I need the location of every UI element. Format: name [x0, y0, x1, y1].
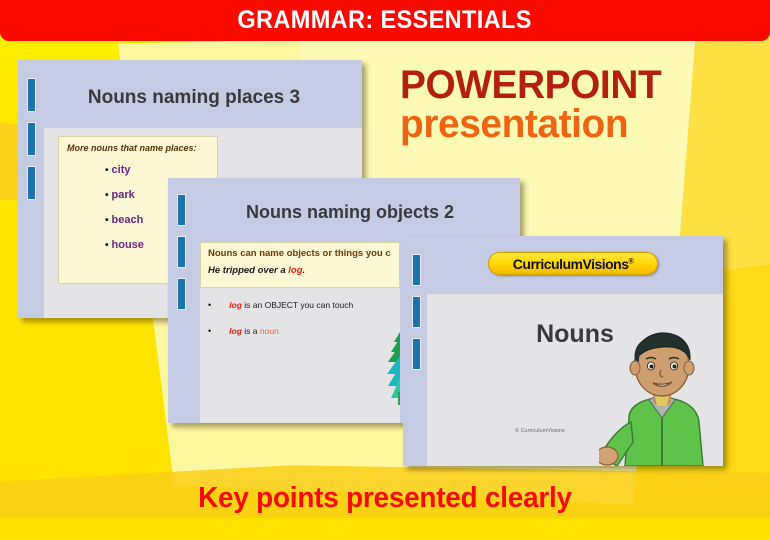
- logo-text: CurriculumVisions®: [513, 257, 633, 271]
- header-banner: GRAMMAR: ESSENTIALS: [0, 0, 770, 41]
- slide2-bullet-tail: noun: [260, 326, 279, 336]
- accent-bar-icon: [27, 166, 36, 200]
- bullet-dot-icon: •: [105, 190, 109, 201]
- bullet-dot-icon: •: [208, 326, 211, 336]
- header-title: GRAMMAR: ESSENTIALS: [238, 8, 532, 33]
- accent-bar-icon: [27, 122, 36, 156]
- slide2-note-lead: Nouns can name objects or things you c: [208, 248, 391, 259]
- slide1-bullet-text: park: [112, 189, 135, 201]
- slide2-note-box: Nouns can name objects or things you c H…: [200, 242, 400, 288]
- logo-text-part2: Visions: [582, 256, 628, 272]
- hero-line-presentation: presentation: [400, 104, 749, 144]
- slide1-title: Nouns naming places 3: [44, 87, 344, 109]
- boy-illustration: [599, 330, 723, 466]
- bullet-dot-icon: •: [105, 165, 109, 176]
- slide1-bullet-text: city: [112, 164, 131, 176]
- slide1-note-lead: More nouns that name places:: [67, 143, 197, 153]
- accent-bar-icon: [177, 194, 186, 226]
- slide2-bullet-list: •log is an OBJECT you can touch •log is …: [208, 300, 353, 352]
- accent-bar-icon: [177, 236, 186, 268]
- list-item: •park: [105, 189, 144, 201]
- accent-bar-icon: [412, 254, 421, 286]
- bullet-dot-icon: •: [208, 300, 211, 310]
- accent-bar-icon: [412, 296, 421, 328]
- slide1-bullet-text: house: [112, 239, 144, 251]
- slide2-bullet-keyword: log: [229, 300, 242, 310]
- slide3-content-area: Nouns © CurriculumVisions: [427, 294, 723, 466]
- slide1-accent-bars: [18, 60, 44, 318]
- slide3-accent-bars: [403, 236, 429, 466]
- list-item: •beach: [105, 214, 144, 226]
- slide2-bullet-text: is an OBJECT you can touch: [242, 300, 353, 310]
- slide2-bullet-keyword: log: [229, 326, 242, 336]
- poster-canvas: GRAMMAR: ESSENTIALS Nouns naming places …: [0, 0, 770, 540]
- slide-thumbnail-title[interactable]: CurriculumVisions® Nouns © CurriculumVis…: [403, 236, 723, 466]
- hero-text-block: POWERPOINT presentation: [400, 66, 760, 144]
- slide3-copyright: © CurriculumVisions: [515, 428, 565, 434]
- footer-tagline: Key points presented clearly: [15, 482, 754, 515]
- hero-line-powerpoint: POWERPOINT: [400, 66, 749, 104]
- slide2-content-area: Nouns can name objects or things you c H…: [200, 242, 400, 423]
- slide2-bullet-text: is a: [242, 326, 260, 336]
- slide2-sentence-suffix: .: [303, 265, 306, 276]
- logo-text-part1: Curriculum: [513, 256, 583, 272]
- slide2-sentence-keyword: log: [288, 265, 302, 276]
- slide1-bullet-text: beach: [112, 214, 144, 226]
- list-item: •log is a noun: [208, 326, 353, 336]
- list-item: •log is an OBJECT you can touch: [208, 300, 353, 310]
- accent-bar-icon: [412, 338, 421, 370]
- bullet-dot-icon: •: [105, 240, 109, 251]
- accent-bar-icon: [177, 278, 186, 310]
- list-item: •house: [105, 239, 144, 251]
- slide2-sentence-prefix: He tripped over a: [208, 265, 288, 276]
- list-item: •city: [105, 164, 144, 176]
- slide2-title: Nouns naming objects 2: [190, 202, 510, 223]
- accent-bar-icon: [27, 78, 36, 112]
- slide2-example-sentence: He tripped over a log.: [208, 265, 305, 276]
- bullet-dot-icon: •: [105, 215, 109, 226]
- curriculum-visions-logo[interactable]: CurriculumVisions®: [488, 252, 658, 275]
- registered-mark-icon: ®: [629, 258, 634, 265]
- slide1-bullet-list: •city •park •beach •house: [105, 164, 144, 264]
- tree-illustration-icon: [382, 330, 400, 406]
